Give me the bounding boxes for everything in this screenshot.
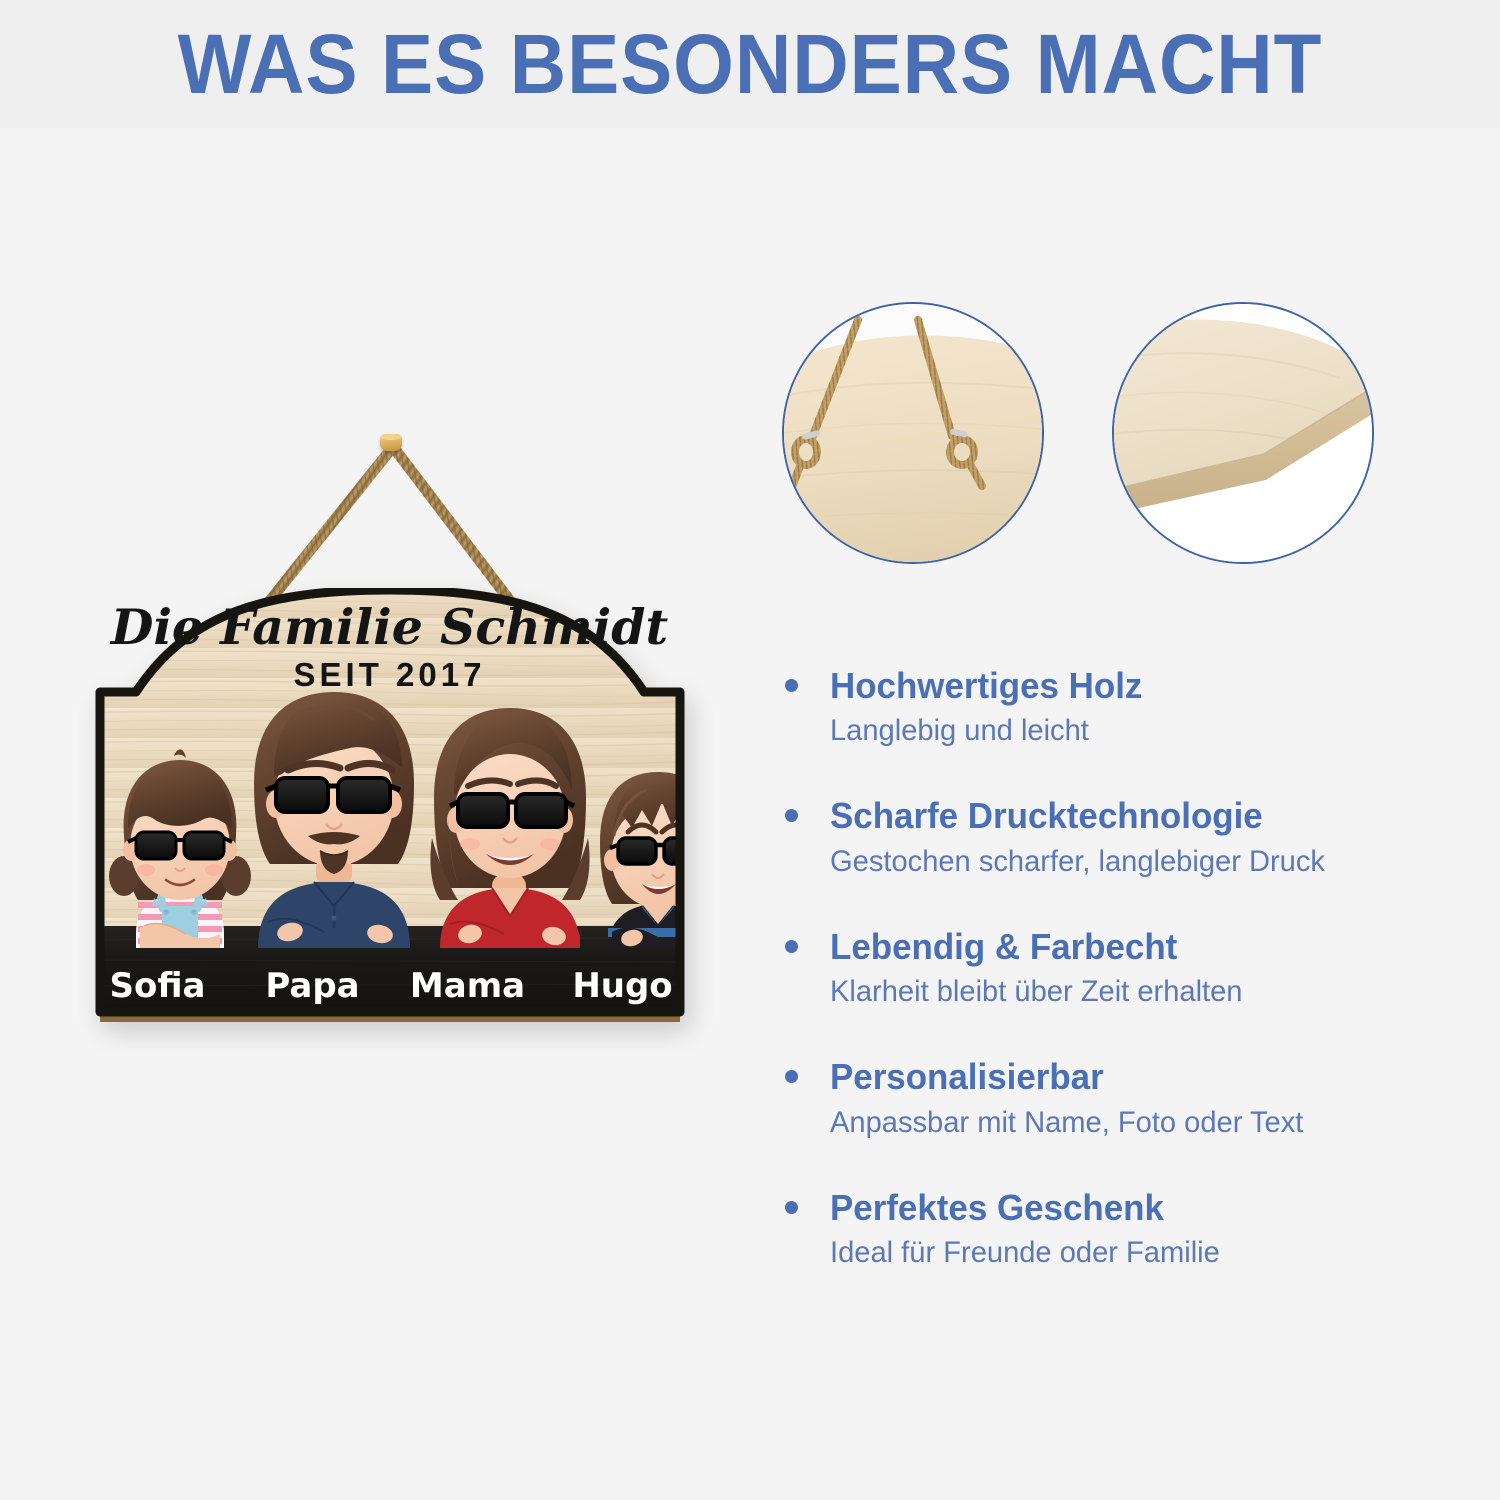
wooden-sign-board [62, 588, 717, 1028]
feature-item: Hochwertiges Holz Langlebig und leicht [775, 665, 1465, 749]
bullet-icon [785, 1201, 798, 1214]
sign-artwork [62, 588, 717, 1028]
bullet-icon [785, 679, 798, 692]
wood-edge-detail-icon [1114, 304, 1372, 562]
feature-subtitle: Gestochen scharfer, langlebiger Druck [830, 844, 1446, 880]
feature-title: Perfektes Geschenk [830, 1187, 1446, 1229]
feature-item: Perfektes Geschenk Ideal für Freunde ode… [775, 1187, 1465, 1271]
rope-knot-detail-icon [784, 304, 1042, 562]
detail-circle-edge [1112, 302, 1374, 564]
feature-title: Hochwertiges Holz [830, 665, 1446, 707]
feature-title: Lebendig & Farbecht [830, 926, 1446, 968]
bullet-icon [785, 809, 798, 822]
feature-subtitle: Klarheit bleibt über Zeit erhalten [830, 974, 1446, 1010]
feature-item: Personalisierbar Anpassbar mit Name, Fot… [775, 1056, 1465, 1140]
detail-circle-rope [782, 302, 1044, 564]
wall-peg-icon [380, 434, 402, 451]
feature-list: Hochwertiges Holz Langlebig und leicht S… [775, 665, 1465, 1271]
feature-item: Scharfe Drucktechnologie Gestochen schar… [775, 795, 1465, 879]
hanging-sign-illustration: Die Familie Schmidt SEIT 2017 Sofia Papa… [40, 400, 760, 1120]
page-title: WAS ES BESONDERS MACHT [53, 0, 1448, 128]
character-mama [430, 708, 589, 948]
feature-title: Personalisierbar [830, 1056, 1446, 1098]
feature-title: Scharfe Drucktechnologie [830, 795, 1446, 837]
feature-subtitle: Anpassbar mit Name, Foto oder Text [830, 1105, 1446, 1141]
character-hugo [600, 772, 716, 950]
feature-subtitle: Langlebig und leicht [830, 713, 1446, 749]
feature-item: Lebendig & Farbecht Klarheit bleibt über… [775, 926, 1465, 1010]
bullet-icon [785, 940, 798, 953]
feature-subtitle: Ideal für Freunde oder Familie [830, 1235, 1446, 1271]
character-papa [254, 692, 414, 948]
bullet-icon [785, 1070, 798, 1083]
